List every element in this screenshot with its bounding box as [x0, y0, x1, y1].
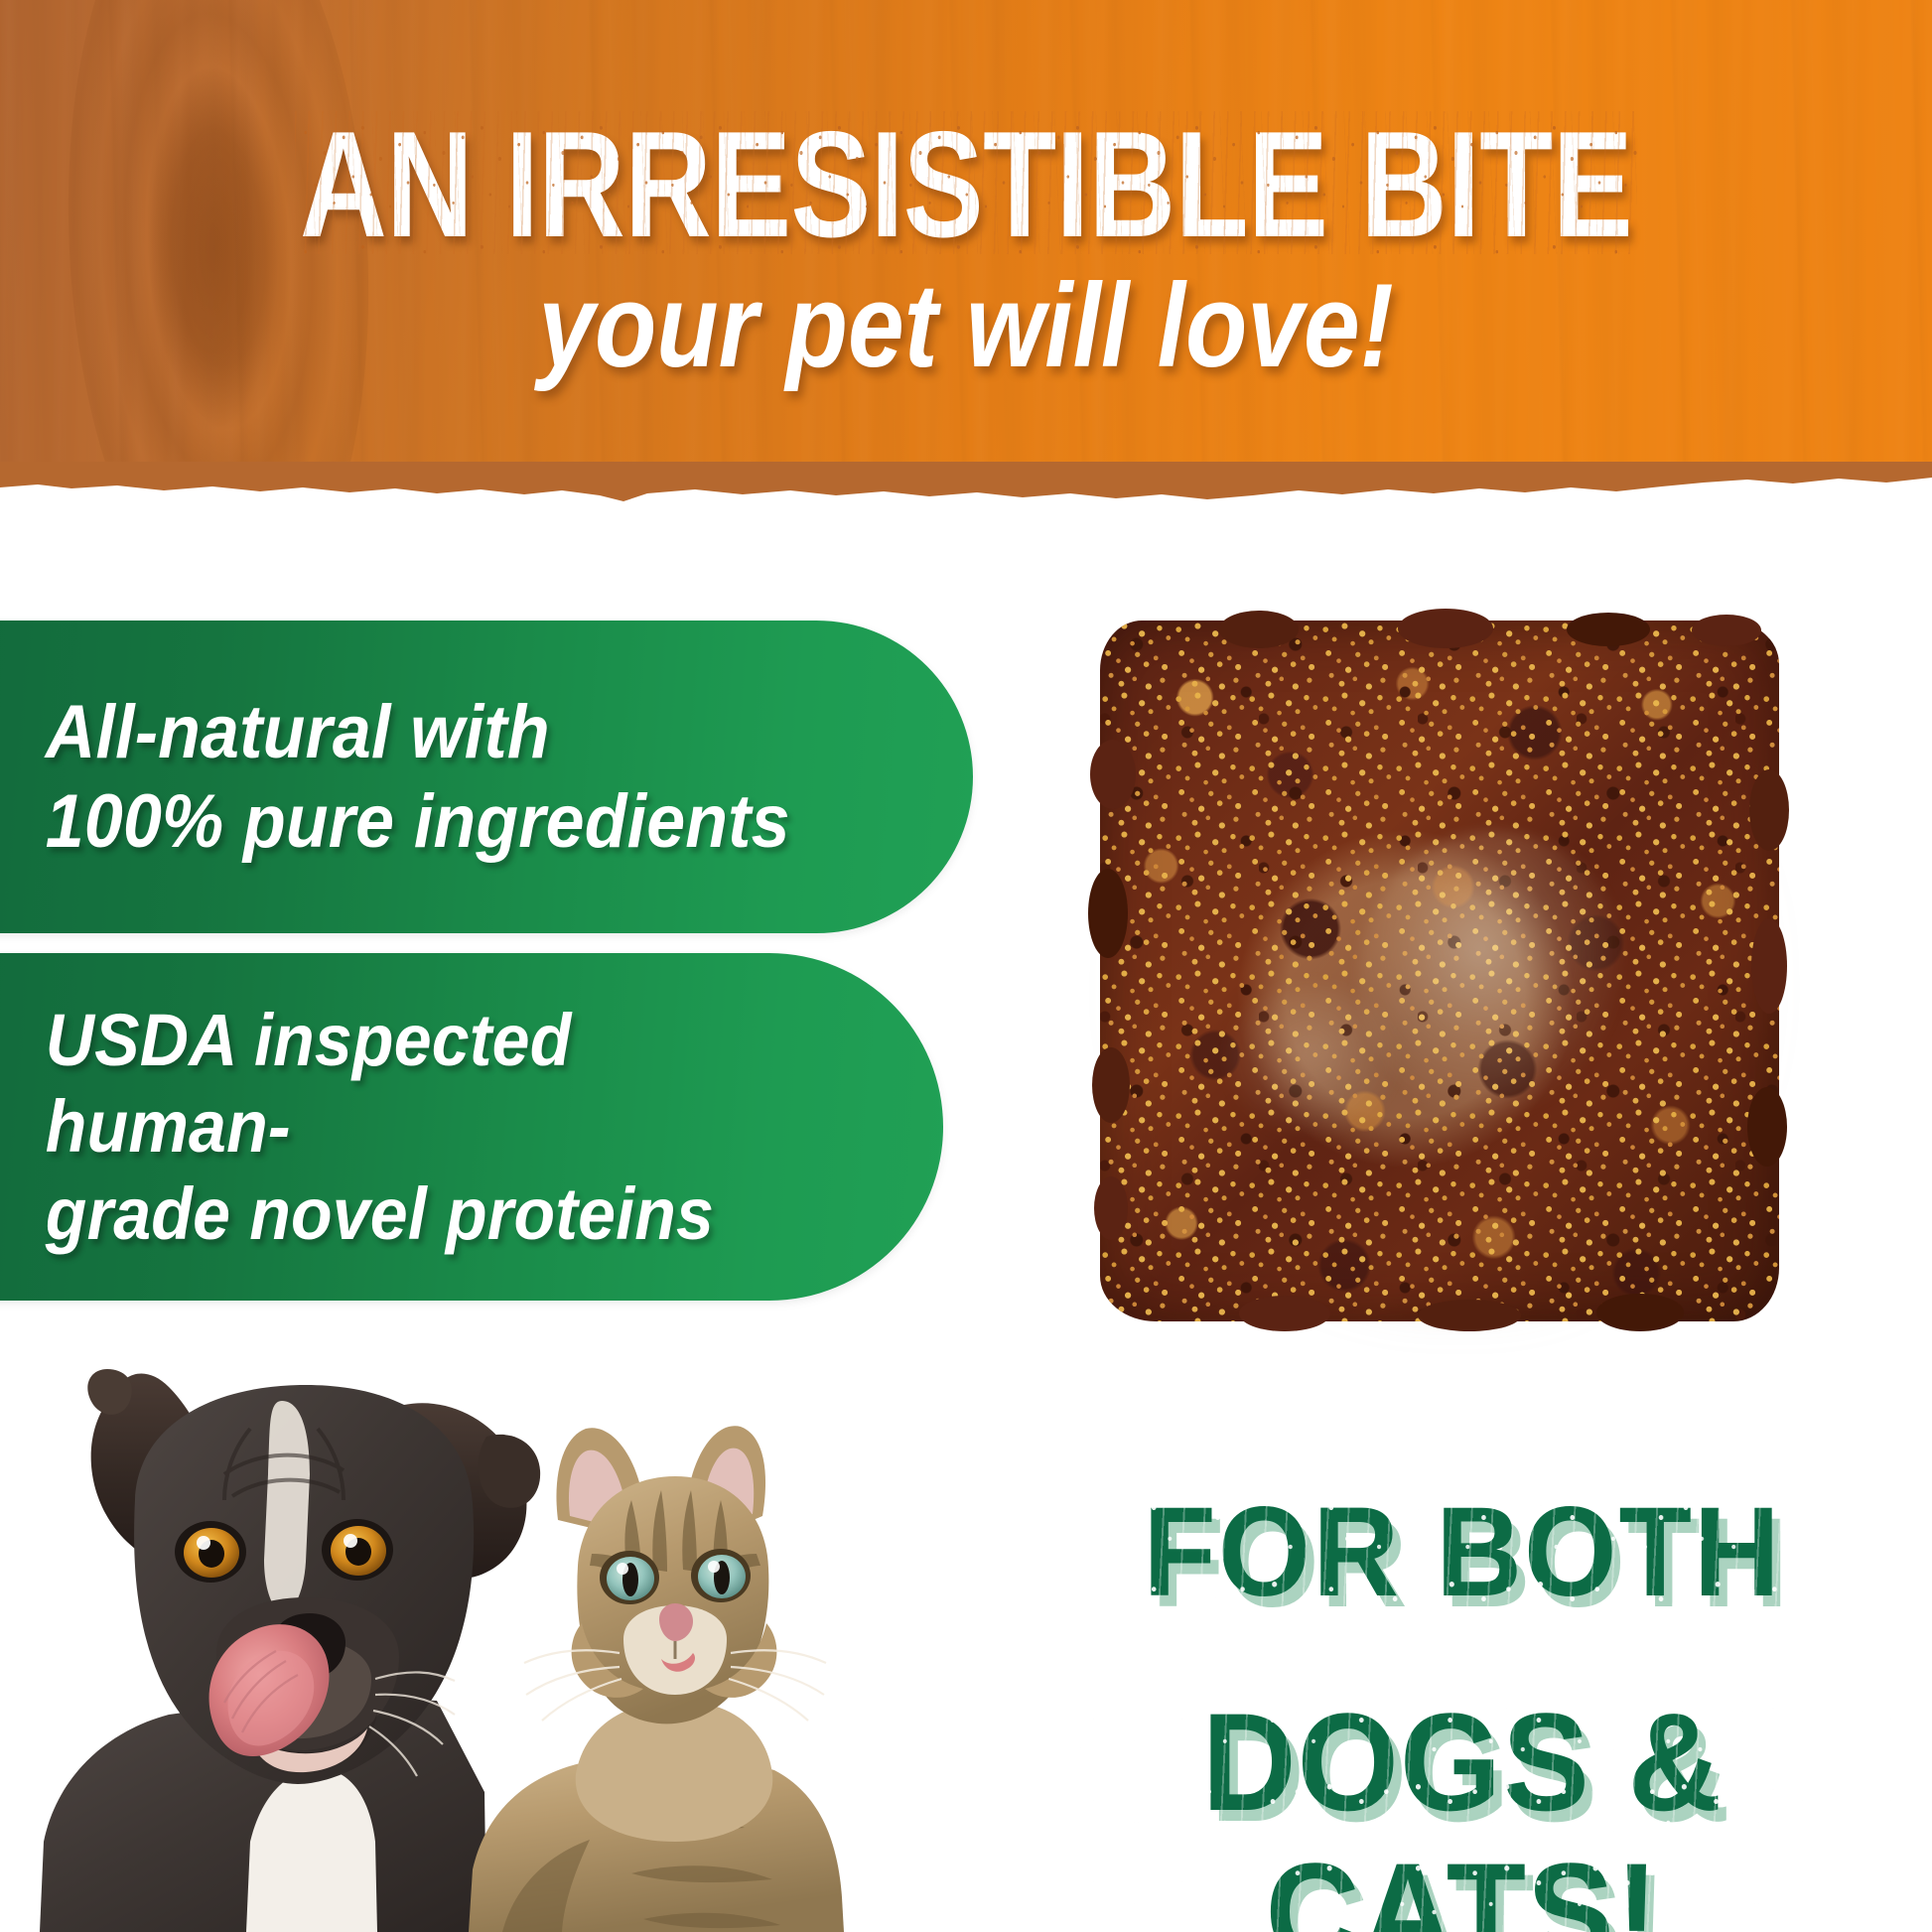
- torn-paper-edge-icon: [0, 458, 1932, 501]
- cta-block: FOR BOTH DOGS & CATS!: [993, 1484, 1932, 1932]
- product-gloss-highlight: [1358, 831, 1630, 1126]
- pets-illustration: [20, 1325, 844, 1932]
- benefit-pill-all-natural: All-natural with 100% pure ingredients: [0, 621, 973, 933]
- banner-title-text: AN IRRESISTIBLE BITE: [300, 109, 1632, 260]
- benefit-pill-all-natural-label: All-natural with 100% pure ingredients: [0, 688, 845, 866]
- cta-line-1: FOR BOTH: [1021, 1484, 1903, 1621]
- product-infographic: AN IRRESISTIBLE BITE your pet will love!…: [0, 0, 1932, 1932]
- product-patty: [1100, 621, 1779, 1321]
- cta-line-2-text: DOGS & CATS!: [1021, 1687, 1903, 1932]
- banner-title: AN IRRESISTIBLE BITE: [194, 109, 1739, 260]
- header-banner: AN IRRESISTIBLE BITE your pet will love!: [0, 0, 1932, 501]
- dog-illustration: [40, 1369, 540, 1932]
- cta-line-1-text: FOR BOTH: [1143, 1484, 1781, 1621]
- cta-line-2: DOGS & CATS!: [1021, 1687, 1903, 1932]
- banner-subtitle: your pet will love!: [145, 266, 1787, 385]
- benefit-pill-usda-inspected-label: USDA inspected human- grade novel protei…: [0, 997, 863, 1257]
- product-image: [1100, 621, 1785, 1330]
- product-gloss-highlight-secondary: [1222, 985, 1399, 1139]
- benefit-pill-usda-inspected: USDA inspected human- grade novel protei…: [0, 953, 943, 1301]
- pets-photo: [20, 1325, 844, 1932]
